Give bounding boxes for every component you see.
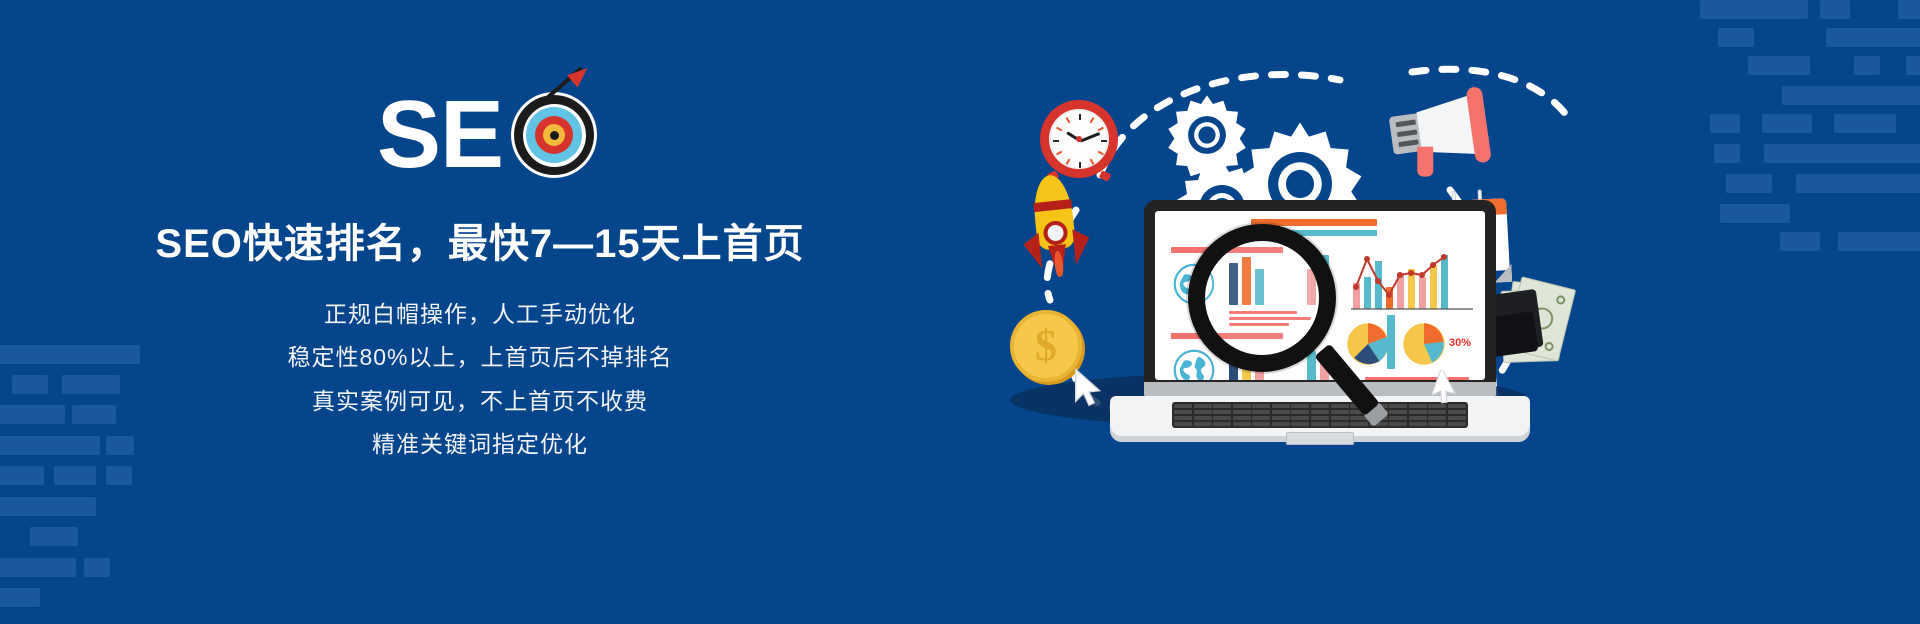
megaphone-icon bbox=[1386, 85, 1498, 188]
rocket-icon bbox=[1017, 172, 1094, 283]
page-title: SEO快速排名，最快7—15天上首页 bbox=[155, 220, 804, 268]
seo-logo: SE bbox=[377, 92, 601, 178]
line-chart bbox=[1351, 247, 1475, 311]
subheading-line-4: 精准关键词指定优化 bbox=[372, 428, 588, 461]
pie-chart-percent-label: 30% bbox=[1449, 337, 1471, 349]
seo-logo-letters: SE bbox=[377, 92, 503, 178]
subheading-line-1: 正规白帽操作，人工手动优化 bbox=[324, 298, 636, 331]
laptop-trackpad bbox=[1286, 432, 1354, 445]
text-content-column: SE SEO快速排名，最快7—15天上首页 正规白帽操作，人工手动优化 稳定性8… bbox=[0, 0, 960, 624]
mouse-cursor-icon bbox=[1432, 370, 1462, 406]
seo-promo-banner: SE SEO快速排名，最快7—15天上首页 正规白帽操作，人工手动优化 稳定性8… bbox=[0, 0, 1920, 624]
subheading-list: 正规白帽操作，人工手动优化 稳定性80%以上，上首页后不掉排名 真实案例可见，不… bbox=[287, 298, 672, 461]
arrow-icon bbox=[507, 88, 601, 182]
seo-illustration: 17 $ bbox=[980, 0, 1740, 624]
magnifying-glass-icon bbox=[1188, 224, 1368, 414]
pie-chart bbox=[1401, 321, 1447, 367]
subheading-line-2: 稳定性80%以上，上首页后不掉排名 bbox=[287, 341, 672, 374]
target-bullseye-icon bbox=[507, 88, 601, 182]
coin-dollar-symbol: $ bbox=[1035, 324, 1057, 368]
subheading-line-3: 真实案例可见，不上首页不收费 bbox=[312, 385, 648, 418]
mouse-cursor-icon bbox=[1072, 368, 1106, 408]
